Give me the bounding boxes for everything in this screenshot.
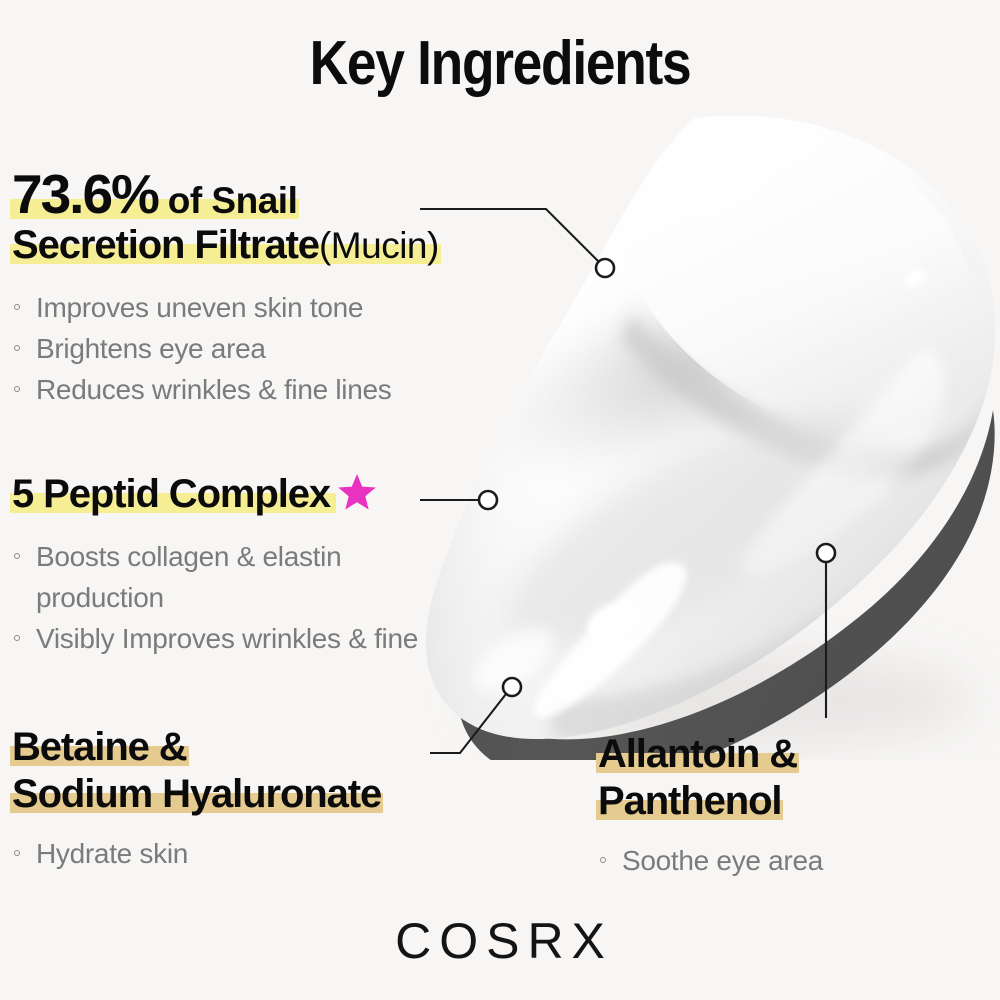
- allantoin-heading-label-2: Panthenol: [598, 779, 781, 823]
- list-item: Visibly Improves wrinkles & fine: [10, 618, 418, 659]
- product-image: [395, 100, 1000, 760]
- list-item-label: Hydrate skin: [36, 838, 188, 869]
- list-item: Improves uneven skin tone: [10, 287, 441, 328]
- betaine-heading-label-1: Betaine &: [12, 725, 187, 769]
- peptid-bullet-list: Boosts collagen & elastin production Vis…: [10, 536, 418, 659]
- leader-line-betaine: [430, 694, 506, 753]
- bullet-dot-icon: [14, 635, 20, 641]
- bullet-dot-icon: [14, 386, 20, 392]
- betaine-heading-line-2: Sodium Hyaluronate: [10, 774, 383, 816]
- peptid-heading: 5 Peptid Complex: [10, 473, 377, 516]
- bullet-dot-icon: [14, 553, 20, 559]
- snail-heading-line-2: Secretion Filtrate(Mucin): [10, 225, 441, 267]
- list-item-label: Brightens eye area: [36, 333, 266, 364]
- snail-heading-paren: (Mucin): [319, 225, 439, 266]
- snail-bullet-list: Improves uneven skin tone Brightens eye …: [10, 287, 441, 410]
- ingredient-block-snail-secretion-filtrate: 73.6% of Snail Secretion Filtrate(Mucin)…: [10, 166, 441, 410]
- allantoin-heading-line-2: Panthenol: [596, 781, 783, 823]
- list-item: Brightens eye area: [10, 328, 441, 369]
- leader-endpoint-peptid: [479, 491, 497, 509]
- allantoin-heading-line-1: Allantoin &: [596, 734, 799, 776]
- list-item-label: Reduces wrinkles & fine lines: [36, 374, 391, 405]
- snail-heading-line-1: 73.6% of Snail: [10, 166, 299, 223]
- ingredient-block-betaine-sodium-hyaluronate: Betaine & Sodium Hyaluronate Hydrate ski…: [10, 727, 383, 874]
- star-icon: [337, 473, 377, 516]
- leader-line-snail: [420, 209, 598, 261]
- peptid-heading-label: 5 Peptid Complex: [12, 472, 330, 516]
- page-title: Key Ingredients: [70, 28, 930, 99]
- bullet-dot-icon: [14, 850, 20, 856]
- bullet-dot-icon: [14, 345, 20, 351]
- list-item: Hydrate skin: [10, 833, 383, 874]
- list-item: Boosts collagen & elastin: [10, 536, 418, 577]
- allantoin-bullet-list: Soothe eye area: [596, 840, 823, 881]
- list-item-label: Visibly Improves wrinkles & fine: [36, 623, 418, 654]
- betaine-heading-line-1: Betaine &: [10, 727, 189, 769]
- list-item-label: Improves uneven skin tone: [36, 292, 363, 323]
- betaine-bullet-list: Hydrate skin: [10, 833, 383, 874]
- allantoin-heading-label-1: Allantoin &: [598, 732, 797, 776]
- list-item-continuation: production: [10, 577, 418, 618]
- list-item: Reduces wrinkles & fine lines: [10, 369, 441, 410]
- snail-percent-value: 73.6%: [12, 163, 158, 225]
- ingredient-block-peptid-complex: 5 Peptid Complex Boosts collagen & elast…: [10, 473, 418, 659]
- snail-heading-main: Secretion Filtrate: [12, 223, 319, 267]
- infographic-canvas: Key Ingredients: [0, 0, 1000, 1000]
- leader-endpoint-betaine: [503, 678, 521, 696]
- bullet-dot-icon: [600, 857, 606, 863]
- list-item-label: Soothe eye area: [622, 845, 823, 876]
- snail-percent-suffix: of Snail: [158, 180, 297, 221]
- list-item-label: production: [36, 582, 164, 613]
- list-item-label: Boosts collagen & elastin: [36, 541, 341, 572]
- leader-endpoint-allantoin: [817, 544, 835, 562]
- betaine-heading-label-2: Sodium Hyaluronate: [12, 772, 381, 816]
- ingredient-block-allantoin-panthenol: Allantoin & Panthenol Soothe eye area: [596, 734, 823, 881]
- leader-endpoint-snail: [596, 259, 614, 277]
- list-item: Soothe eye area: [596, 840, 823, 881]
- brand-logo: COSRX: [0, 912, 1000, 970]
- bullet-dot-icon: [14, 304, 20, 310]
